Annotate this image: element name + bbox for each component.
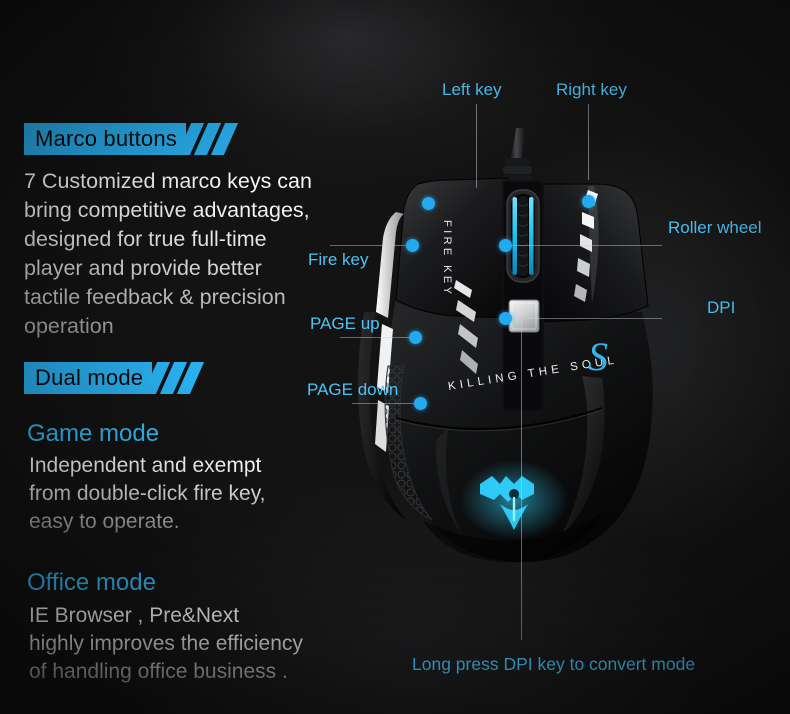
infographic-canvas: FIRE KEY KILLING THE SOUL S [0, 0, 790, 714]
callout-left-key: Left key [442, 80, 502, 100]
banner-label-marco-buttons: Marco buttons [24, 123, 186, 155]
leader-line-right-key [588, 104, 589, 180]
paragraph-office-mode: IE Browser , Pre&Next highly improves th… [29, 602, 399, 686]
leader-line-caption [521, 318, 522, 640]
fire-key-engraving: FIRE KEY [441, 220, 453, 297]
banner-marco-buttons: Marco buttons [24, 123, 231, 155]
tagline-initial: S [588, 334, 608, 379]
leader-line-dpi [505, 318, 662, 319]
subheading-office-mode: Office mode [27, 569, 156, 597]
caption-dpi-convert-mode: Long press DPI key to convert mode [412, 654, 695, 675]
banner-slash-decoration [152, 362, 197, 394]
banner-slash-decoration [186, 123, 231, 155]
connector-dot-roller-wheel [499, 239, 512, 252]
subheading-game-mode: Game mode [27, 420, 159, 448]
connector-dot-right-key [582, 195, 595, 208]
callout-roller-wheel: Roller wheel [668, 218, 762, 238]
paragraph-game-mode: Independent and exempt from double-click… [29, 452, 389, 536]
copy-column: Marco buttons 7 Customized marco keys ca… [0, 0, 420, 714]
paragraph-marco-buttons: 7 Customized marco keys can bring compet… [24, 167, 384, 341]
connector-dot-left-key [422, 197, 435, 210]
callout-dpi: DPI [707, 298, 735, 318]
leader-line-left-key [476, 104, 477, 188]
callout-right-key: Right key [556, 80, 627, 100]
banner-dual-mode: Dual mode [24, 362, 197, 394]
banner-label-dual-mode: Dual mode [24, 362, 152, 394]
connector-dot-dpi [499, 312, 512, 325]
leader-line-roller-wheel [505, 245, 662, 246]
